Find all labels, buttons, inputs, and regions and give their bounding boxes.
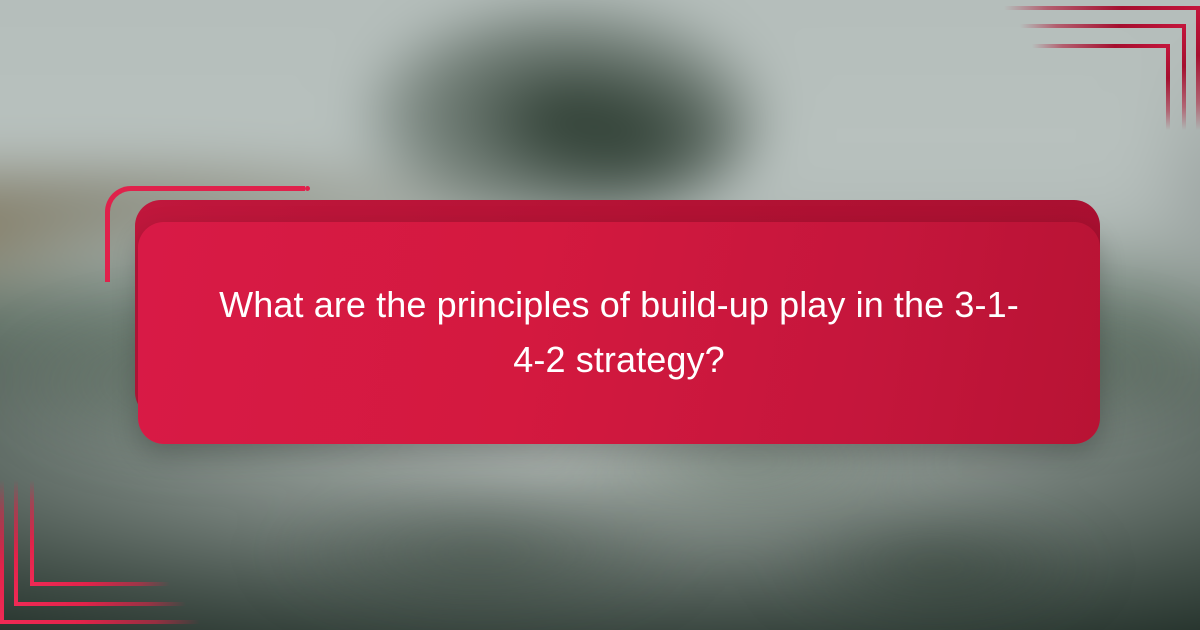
poster-canvas: What are the principles of build-up play…	[0, 0, 1200, 630]
question-text: What are the principles of build-up play…	[219, 278, 1019, 387]
question-card-stack: What are the principles of build-up play…	[105, 186, 1100, 444]
question-card-front: What are the principles of build-up play…	[138, 222, 1100, 444]
